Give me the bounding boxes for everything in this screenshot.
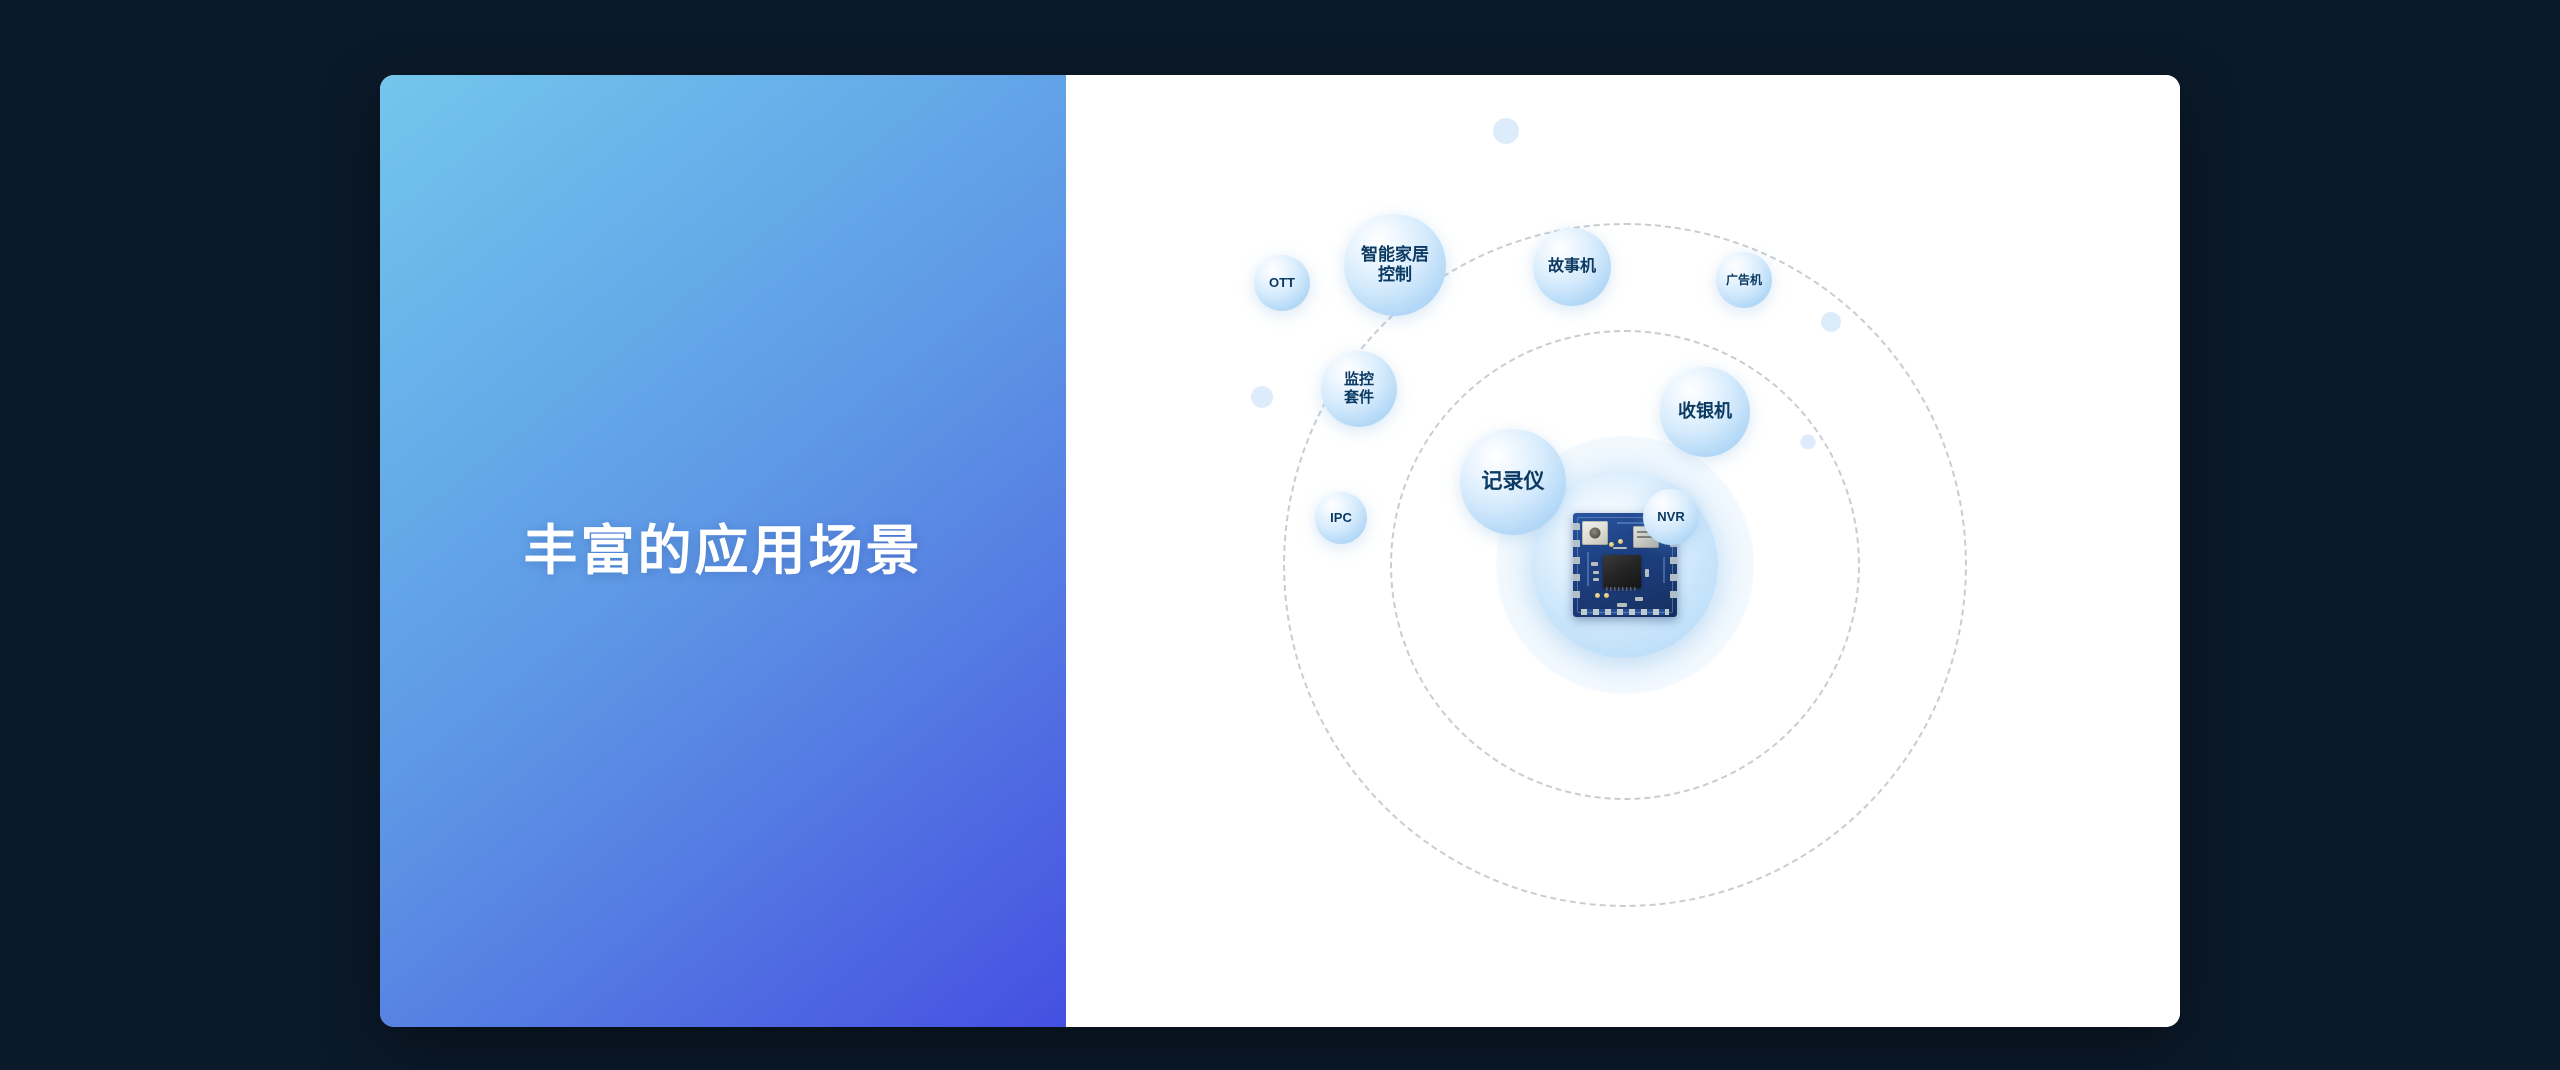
bubble-smart-home-line2: 控制 bbox=[1361, 265, 1429, 285]
pcb-smd-4 bbox=[1645, 569, 1649, 577]
bubble-monitor-kit[interactable]: 监控 套件 bbox=[1321, 351, 1397, 427]
bubble-story-machine[interactable]: 故事机 bbox=[1533, 228, 1611, 306]
pcb-left-pads bbox=[1573, 523, 1580, 607]
application-scenarios-diagram: 智能家居 控制 故事机 广告机 OTT 监控 套件 bbox=[1066, 75, 2180, 1027]
decor-dot-left bbox=[1251, 386, 1273, 408]
bubble-nvr[interactable]: NVR bbox=[1643, 489, 1699, 545]
pcb-pad-b bbox=[1618, 539, 1623, 544]
pcb-smd-1 bbox=[1591, 562, 1598, 566]
left-gradient-panel: 丰富的应用场景 bbox=[380, 75, 1066, 1027]
right-content-panel: 智能家居 控制 故事机 广告机 OTT 监控 套件 bbox=[1066, 75, 2180, 1027]
slide-stage: 丰富的应用场景 bbox=[0, 0, 2560, 1070]
decor-dot-right bbox=[1821, 312, 1841, 332]
bubble-story-machine-label: 故事机 bbox=[1548, 258, 1596, 277]
soc-chip-icon bbox=[1603, 555, 1641, 588]
pcb-pad-c bbox=[1595, 593, 1600, 598]
bubble-recorder[interactable]: 记录仪 bbox=[1460, 429, 1566, 535]
bubble-monitor-kit-line2: 套件 bbox=[1344, 389, 1374, 407]
pcb-pad-a bbox=[1609, 542, 1614, 547]
bubble-recorder-label: 记录仪 bbox=[1482, 470, 1545, 495]
pcb-bottom-pads bbox=[1581, 609, 1669, 615]
bubble-ad-machine[interactable]: 广告机 bbox=[1716, 252, 1772, 308]
slide-card: 丰富的应用场景 bbox=[380, 75, 2180, 1027]
bubble-cashier[interactable]: 收银机 bbox=[1660, 367, 1750, 457]
bubble-ott[interactable]: OTT bbox=[1254, 255, 1310, 311]
bubble-ipc[interactable]: IPC bbox=[1315, 492, 1367, 544]
pcb-smd-2 bbox=[1593, 571, 1599, 574]
ufl-antenna-connector-icon bbox=[1582, 521, 1608, 545]
pcb-smd-5 bbox=[1635, 597, 1643, 601]
bubble-smart-home-line1: 智能家居 bbox=[1361, 245, 1429, 265]
bubble-nvr-label: NVR bbox=[1657, 509, 1684, 524]
bubble-smart-home[interactable]: 智能家居 控制 bbox=[1344, 214, 1446, 316]
bubble-cashier-label: 收银机 bbox=[1678, 401, 1732, 422]
bubble-monitor-kit-line1: 监控 bbox=[1344, 371, 1374, 389]
pcb-smd-7 bbox=[1613, 547, 1627, 549]
decor-dot-top bbox=[1493, 118, 1519, 144]
pcb-smd-6 bbox=[1617, 603, 1627, 607]
bubble-ipc-label: IPC bbox=[1330, 510, 1352, 525]
pcb-trace-right bbox=[1663, 557, 1665, 583]
decor-dot-lower-right bbox=[1801, 435, 1816, 450]
bubble-ad-machine-label: 广告机 bbox=[1726, 273, 1762, 287]
page-title: 丰富的应用场景 bbox=[524, 516, 923, 586]
pcb-smd-3 bbox=[1593, 578, 1599, 581]
bubble-ott-label: OTT bbox=[1269, 275, 1295, 290]
pcb-trace-mid bbox=[1587, 552, 1589, 586]
pcb-pad-d bbox=[1604, 593, 1609, 598]
